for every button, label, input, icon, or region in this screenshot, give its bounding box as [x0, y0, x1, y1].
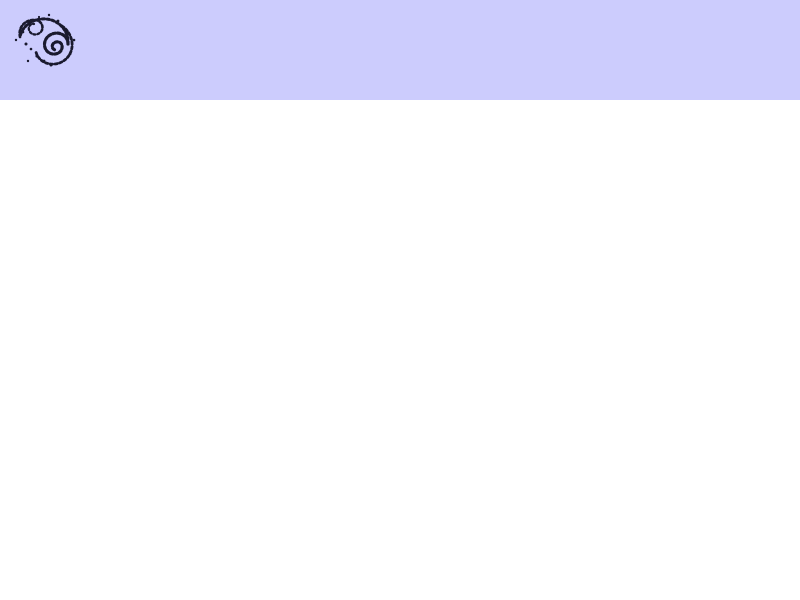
slide-body [0, 100, 800, 600]
slide-canvas [0, 0, 800, 600]
tab-bar [88, 74, 224, 100]
spiral-swirl-logo [6, 4, 88, 72]
tab-technik[interactable] [200, 74, 224, 100]
slide-header [0, 0, 800, 100]
tab-vorstellung[interactable] [116, 74, 140, 100]
tab-verwandtes[interactable] [172, 74, 196, 100]
tab-konzepte[interactable] [144, 74, 168, 100]
tab-geschichte[interactable] [88, 74, 112, 100]
